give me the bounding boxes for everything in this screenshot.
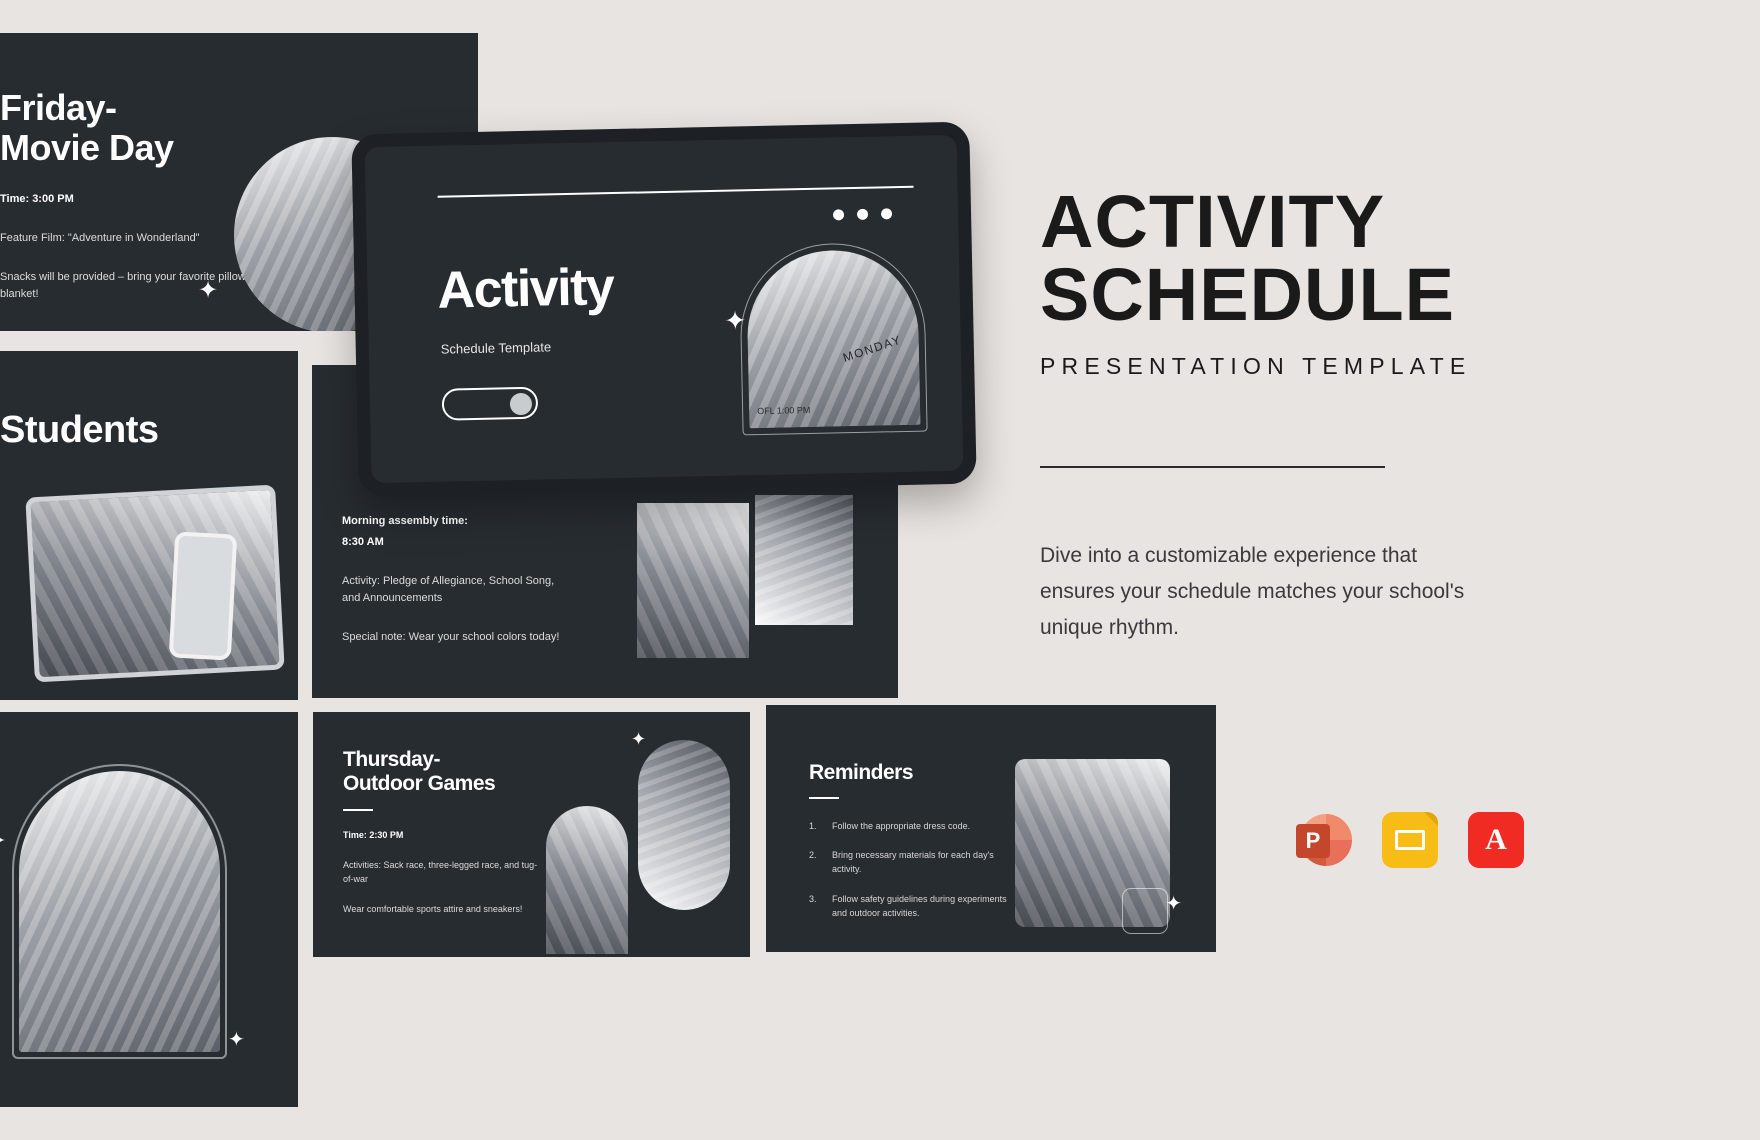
tablet-arch-day: MONDAY — [841, 333, 903, 365]
slide-assembly-content: Morning assembly time: 8:30 AM Activity:… — [342, 513, 562, 646]
list-item: 3. Follow safety guidelines during exper… — [809, 892, 1024, 921]
toggle-switch[interactable] — [442, 387, 539, 421]
pdf-icon[interactable]: A — [1468, 812, 1524, 868]
powerpoint-letter: P — [1296, 824, 1330, 858]
sparkle-icon: ✦ — [724, 307, 746, 333]
tablet-subtitle: Schedule Template — [441, 339, 552, 356]
list-item-number: 1. — [809, 819, 819, 833]
page-title: ACTIVITY SCHEDULE — [1040, 186, 1680, 331]
hero-panel: ACTIVITY SCHEDULE PRESENTATION TEMPLATE … — [1040, 186, 1680, 646]
slide-thursday-photo-girl — [638, 740, 730, 910]
list-item-number: 3. — [809, 892, 819, 921]
slide-movie-title-line2: Movie Day — [0, 128, 174, 168]
toggle-knob — [510, 393, 532, 415]
slide-assembly-note: Special note: Wear your school colors to… — [342, 629, 562, 646]
tablet-arch-caption: OFL 1:00 PM — [757, 405, 810, 416]
format-icons: P A — [1296, 812, 1524, 868]
hero-description: Dive into a customizable experience that… — [1040, 538, 1490, 646]
slide-movie-title-line1: Friday- — [0, 88, 174, 128]
sparkle-icon: ✦ — [631, 730, 646, 748]
dots-indicator[interactable] — [833, 208, 892, 220]
slide-reminders[interactable]: Reminders 1. Follow the appropriate dres… — [766, 705, 1216, 952]
page-fold — [1424, 812, 1438, 826]
powerpoint-icon[interactable]: P — [1296, 812, 1352, 868]
tablet-arch-photo: MONDAY OFL 1:00 PM — [746, 249, 921, 429]
divider — [343, 809, 373, 811]
slide-assembly-photo-hallway — [755, 495, 853, 625]
list-item-text: Follow the appropriate dress code. — [832, 819, 970, 833]
decorative-square — [1122, 888, 1168, 934]
slide-assembly-time: 8:30 AM — [342, 534, 562, 551]
slides-frame — [1395, 830, 1425, 850]
hero-subtitle: PRESENTATION TEMPLATE — [1040, 353, 1680, 380]
chalkboard-photo — [19, 771, 220, 1052]
sparkle-icon: ✦ — [1165, 894, 1182, 914]
slide-thursday-title-line1: Thursday- — [343, 748, 543, 772]
list-item-text: Follow safety guidelines during experime… — [832, 892, 1024, 921]
dot-icon — [857, 209, 868, 220]
sparkle-icon: ✦ — [198, 279, 218, 303]
slide-reminders-title: Reminders — [809, 761, 1024, 785]
slide-thursday-photo-boy — [546, 806, 628, 954]
hero-title-line1: ACTIVITY — [1040, 186, 1680, 259]
slide-assembly-activity: Activity: Pledge of Allegiance, School S… — [342, 573, 562, 607]
slide-students[interactable]: Students — [0, 351, 298, 700]
sparkle-icon: ✦ — [0, 830, 6, 852]
divider — [1040, 466, 1385, 468]
slide-assembly-photo-student — [637, 503, 749, 658]
tablet-mockup[interactable]: Activity Schedule Template MONDAY OFL 1:… — [351, 122, 976, 497]
slide-thursday-outdoor-games[interactable]: Thursday- Outdoor Games Time: 2:30 PM Ac… — [313, 712, 750, 957]
slide-thursday-note: Wear comfortable sports attire and sneak… — [343, 903, 543, 917]
phone-mockup — [169, 531, 238, 660]
slide-students-title: Students — [0, 409, 159, 452]
list-item: 1. Follow the appropriate dress code. — [809, 819, 1024, 833]
arch-frame: MONDAY OFL 1:00 PM — [739, 242, 928, 436]
poster-canvas: Friday- Movie Day Time: 3:00 PM Feature … — [0, 0, 1760, 1140]
laptop-mockup — [25, 485, 284, 683]
list-item: 2. Bring necessary materials for each da… — [809, 848, 1024, 877]
slide-thursday-title-line2: Outdoor Games — [343, 772, 543, 796]
tablet-screen: Activity Schedule Template MONDAY OFL 1:… — [365, 135, 964, 483]
slide-thursday-content: Thursday- Outdoor Games Time: 2:30 PM Ac… — [343, 748, 543, 917]
google-slides-icon[interactable] — [1382, 812, 1438, 868]
divider — [438, 186, 914, 198]
slide-reminders-content: Reminders 1. Follow the appropriate dres… — [809, 761, 1024, 935]
divider — [809, 797, 839, 799]
slide-thursday-activities: Activities: Sack race, three-legged race… — [343, 859, 543, 887]
hero-title-line2: SCHEDULE — [1040, 259, 1680, 332]
slide-assembly-heading: Morning assembly time: — [342, 513, 562, 530]
arch-frame — [12, 764, 227, 1059]
sparkle-icon: ✦ — [228, 1030, 245, 1050]
tablet-title: Activity — [437, 257, 614, 321]
reminders-list: 1. Follow the appropriate dress code. 2.… — [809, 819, 1024, 921]
slide-chalkboard[interactable]: ✦ ✦ — [0, 712, 298, 1107]
list-item-number: 2. — [809, 848, 819, 877]
dot-icon — [881, 208, 892, 219]
slide-thursday-time: Time: 2:30 PM — [343, 829, 543, 843]
dot-icon — [833, 209, 844, 220]
list-item-text: Bring necessary materials for each day's… — [832, 848, 1024, 877]
